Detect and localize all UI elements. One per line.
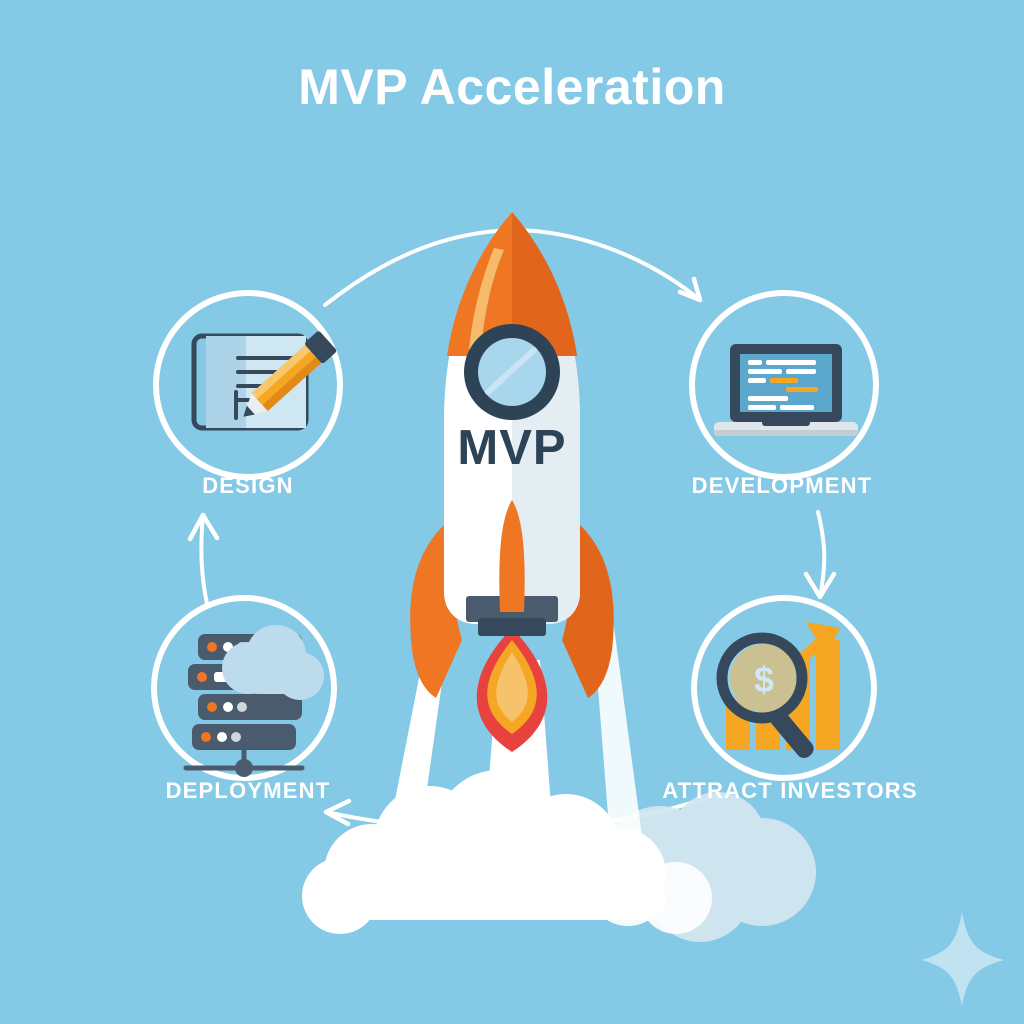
mvp-acceleration-infographic: $ MVP Acceleration MVP DESIGN DEVELOPMEN… — [0, 0, 1024, 1024]
page-title: MVP Acceleration — [0, 58, 1024, 116]
node-label-deployment: DEPLOYMENT — [98, 778, 398, 804]
node-label-attract-investors: ATTRACT INVESTORS — [640, 778, 940, 804]
node-label-design: DESIGN — [98, 473, 398, 499]
rocket-nozzle — [478, 618, 546, 636]
node-label-development: DEVELOPMENT — [632, 473, 932, 499]
artwork-layer: $ — [0, 0, 1024, 1024]
laptop-code-icon — [714, 344, 858, 436]
rocket-mvp-badge: MVP — [412, 420, 612, 476]
